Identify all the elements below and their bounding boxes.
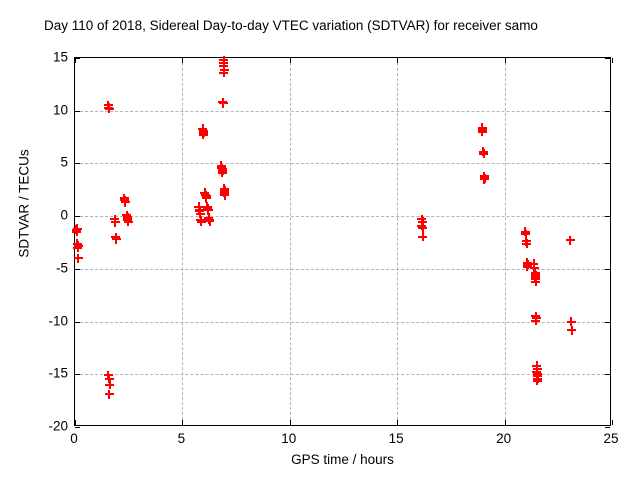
tick-mark-y (75, 269, 80, 270)
y-tick-label: -15 (24, 366, 68, 381)
x-axis-label: GPS time / hours (74, 452, 611, 467)
tick-mark-y-right (605, 322, 610, 323)
data-point (479, 149, 488, 158)
gridline-vertical (397, 58, 398, 425)
data-point (531, 277, 540, 286)
gridline-vertical (290, 58, 291, 425)
data-point (73, 224, 82, 233)
data-point (219, 99, 228, 108)
gridline-vertical (505, 58, 506, 425)
y-tick-label: 10 (24, 102, 68, 117)
gridline-vertical (182, 58, 183, 425)
x-tick-label: 15 (371, 431, 421, 446)
data-point (418, 232, 427, 241)
data-point (121, 198, 130, 207)
tick-mark-x (397, 420, 398, 425)
gridline-horizontal (75, 111, 610, 112)
data-point (566, 236, 575, 245)
data-point (522, 239, 531, 248)
data-point (418, 223, 427, 232)
gridline-horizontal (75, 216, 610, 217)
data-point (533, 376, 542, 385)
data-point (124, 217, 133, 226)
gridline-horizontal (75, 322, 610, 323)
tick-mark-x-top (290, 58, 291, 63)
x-tick-label: 0 (49, 431, 99, 446)
tick-mark-x-top (612, 58, 613, 63)
scatter-chart: Day 110 of 2018, Sidereal Day-to-day VTE… (0, 0, 640, 480)
data-point (220, 191, 229, 200)
tick-mark-x-top (75, 58, 76, 63)
tick-mark-y (75, 216, 80, 217)
data-point (219, 68, 228, 77)
x-tick-label: 10 (264, 431, 314, 446)
data-point (111, 218, 120, 227)
data-point (531, 316, 540, 325)
x-tick-label: 20 (479, 431, 529, 446)
data-point (104, 103, 113, 112)
tick-mark-y-right (605, 216, 610, 217)
tick-mark-y-right (605, 58, 610, 59)
tick-mark-x (75, 420, 76, 425)
y-axis-label: SDTVAR / TECUs (17, 134, 32, 274)
tick-mark-x-top (505, 58, 506, 63)
data-point (73, 243, 82, 252)
tick-mark-y-right (605, 374, 610, 375)
tick-mark-x-top (182, 58, 183, 63)
tick-mark-y (75, 374, 80, 375)
tick-mark-x (612, 420, 613, 425)
y-tick-label: -10 (24, 313, 68, 328)
tick-mark-y-right (605, 111, 610, 112)
data-point (105, 390, 114, 399)
tick-mark-y (75, 111, 80, 112)
tick-mark-y-right (605, 427, 610, 428)
x-tick-label: 5 (156, 431, 206, 446)
tick-mark-x-top (397, 58, 398, 63)
plot-area (74, 57, 611, 426)
tick-mark-y-right (605, 269, 610, 270)
gridline-horizontal (75, 374, 610, 375)
data-point (74, 254, 83, 263)
tick-mark-x (505, 420, 506, 425)
data-point (567, 326, 576, 335)
gridline-horizontal (75, 163, 610, 164)
data-point (480, 175, 489, 184)
tick-mark-y (75, 163, 80, 164)
data-point (112, 235, 121, 244)
tick-mark-y (75, 427, 80, 428)
x-tick-label: 25 (586, 431, 636, 446)
tick-mark-x (182, 420, 183, 425)
tick-mark-y (75, 322, 80, 323)
data-point (478, 127, 487, 136)
y-tick-label: 15 (24, 50, 68, 65)
data-point (218, 168, 227, 177)
data-point (199, 130, 208, 139)
data-point (105, 380, 114, 389)
page-title: Day 110 of 2018, Sidereal Day-to-day VTE… (44, 18, 538, 33)
data-point (205, 217, 214, 226)
tick-mark-x (290, 420, 291, 425)
tick-mark-y-right (605, 163, 610, 164)
